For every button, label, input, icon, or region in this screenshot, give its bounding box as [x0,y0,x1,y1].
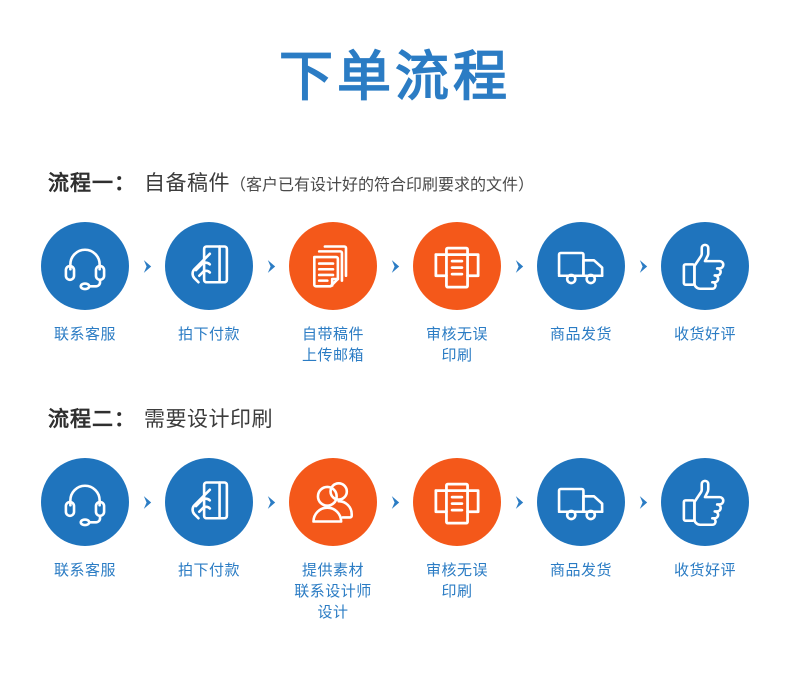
chevron-right-icon [142,495,153,510]
step-icon-circle[interactable] [165,458,253,546]
process-section-2: 流程二：需要设计印刷 联系客服 [0,366,790,623]
thumbs-up-icon [679,240,731,292]
section-1-name: 自备稿件 [144,172,230,195]
step-label: 商品发货 [550,560,612,581]
truck-icon [555,476,607,528]
step-arrow [629,458,657,546]
step-label: 联系客服 [54,560,116,581]
step-arrow [133,458,161,546]
step-arrow [257,458,285,546]
chevron-right-icon [390,495,401,510]
hand-card-icon [183,240,235,292]
step-label: 提供素材 联系设计师 设计 [294,560,372,623]
step-pay-order[interactable]: 拍下付款 [161,222,257,345]
section-1-label: 流程一： [48,172,136,195]
section-1-steps: 联系客服 [0,222,790,366]
step-arrow [381,222,409,310]
section-2-name: 需要设计印刷 [144,408,273,431]
section-1-note: （客户已有设计好的符合印刷要求的文件） [230,177,534,194]
chevron-right-icon [266,259,277,274]
step-ship-goods[interactable]: 商品发货 [533,222,629,345]
step-label: 自带稿件 上传邮箱 [302,324,364,366]
step-label: 审核无误 印刷 [426,324,488,366]
step-icon-circle[interactable] [165,222,253,310]
page-title: 下单流程 [0,0,790,122]
step-label: 审核无误 印刷 [426,560,488,602]
step-icon-circle[interactable] [41,222,129,310]
step-icon-circle[interactable] [413,222,501,310]
chevron-right-icon [142,259,153,274]
step-arrow [629,222,657,310]
section-1-header: 流程一：自备稿件（客户已有设计好的符合印刷要求的文件） [0,170,790,200]
step-contact-service[interactable]: 联系客服 [37,222,133,345]
people-icon [307,476,359,528]
step-upload-artwork[interactable]: 自带稿件 上传邮箱 [285,222,381,366]
step-pay-order[interactable]: 拍下付款 [161,458,257,581]
step-icon-circle[interactable] [537,222,625,310]
thumbs-up-icon [679,476,731,528]
step-arrow [505,458,533,546]
step-provide-materials[interactable]: 提供素材 联系设计师 设计 [285,458,381,623]
order-process-infographic: 下单流程 流程一：自备稿件（客户已有设计好的符合印刷要求的文件） [0,0,790,700]
step-label: 收货好评 [674,560,736,581]
step-icon-circle[interactable] [413,458,501,546]
headset-icon [59,476,111,528]
step-label: 联系客服 [54,324,116,345]
chevron-right-icon [638,495,649,510]
chevron-right-icon [266,495,277,510]
step-arrow [505,222,533,310]
step-receive-review[interactable]: 收货好评 [657,458,753,581]
step-arrow [381,458,409,546]
step-receive-review[interactable]: 收货好评 [657,222,753,345]
printer-icon [431,240,483,292]
process-section-1: 流程一：自备稿件（客户已有设计好的符合印刷要求的文件） 联系客服 [0,122,790,366]
hand-card-icon [183,476,235,528]
step-icon-circle[interactable] [41,458,129,546]
step-ship-goods[interactable]: 商品发货 [533,458,629,581]
truck-icon [555,240,607,292]
section-2-steps: 联系客服 [0,458,790,623]
headset-icon [59,240,111,292]
step-contact-service[interactable]: 联系客服 [37,458,133,581]
step-icon-circle[interactable] [289,458,377,546]
chevron-right-icon [514,259,525,274]
section-2-header: 流程二：需要设计印刷 [0,406,790,436]
step-label: 拍下付款 [178,560,240,581]
section-2-label: 流程二： [48,408,136,431]
printer-icon [431,476,483,528]
step-icon-circle[interactable] [537,458,625,546]
step-icon-circle[interactable] [661,458,749,546]
step-label: 拍下付款 [178,324,240,345]
step-arrow [257,222,285,310]
documents-icon [307,240,359,292]
step-arrow [133,222,161,310]
step-approve-print[interactable]: 审核无误 印刷 [409,222,505,366]
step-label: 商品发货 [550,324,612,345]
chevron-right-icon [638,259,649,274]
step-icon-circle[interactable] [661,222,749,310]
step-icon-circle[interactable] [289,222,377,310]
step-label: 收货好评 [674,324,736,345]
chevron-right-icon [390,259,401,274]
step-approve-print[interactable]: 审核无误 印刷 [409,458,505,602]
chevron-right-icon [514,495,525,510]
